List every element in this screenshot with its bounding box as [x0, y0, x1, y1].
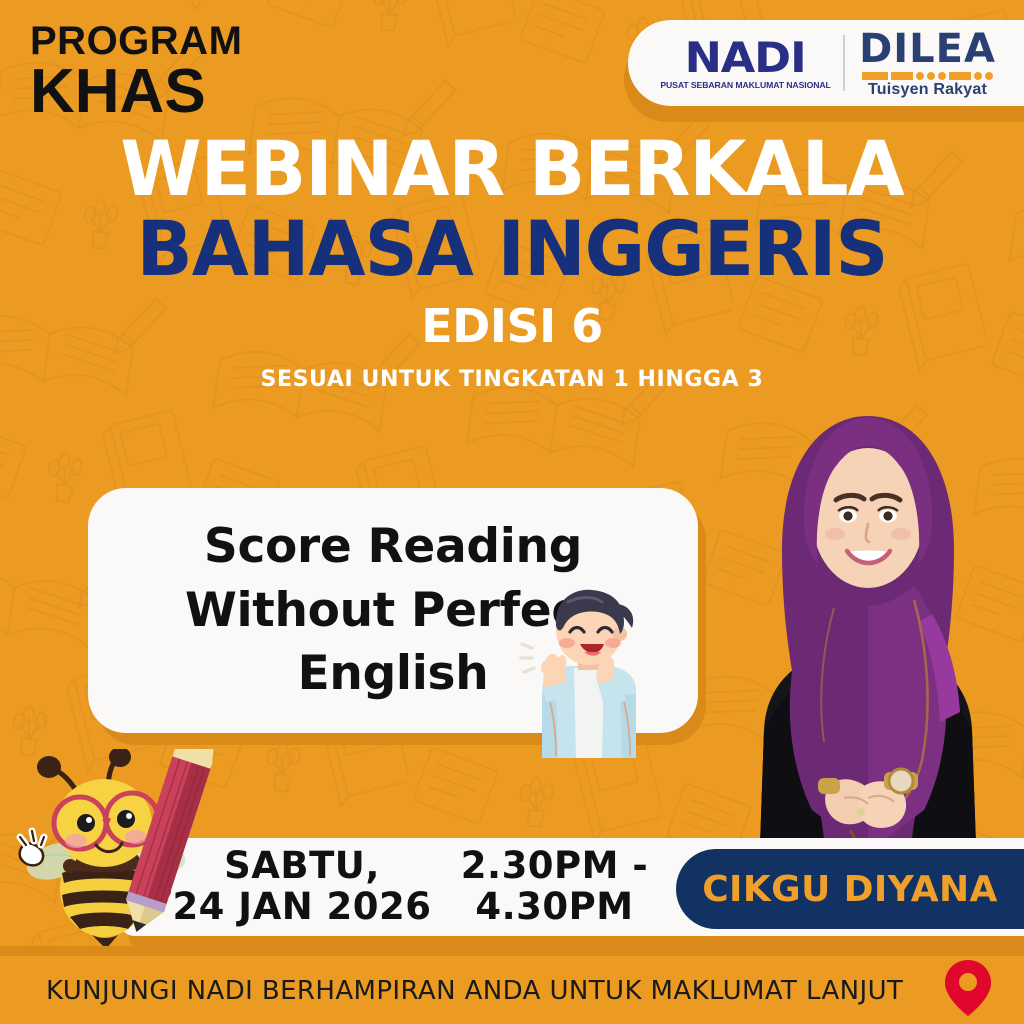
cheering-boy-illustration	[498, 578, 678, 758]
dilea-dash-dot-motif	[862, 72, 993, 80]
title-line-webinar: WEBINAR BERKALA	[15, 132, 1008, 206]
speaker-badge: CIKGU DIYANA	[676, 849, 1024, 929]
logo-card: NADI PUSAT SEBARAN MAKLUMAT NASIONAL DIL…	[628, 20, 1024, 106]
nadi-wordmark: NADI	[685, 37, 806, 79]
location-pin-icon	[942, 958, 994, 1018]
title-edition: EDISI 6	[0, 299, 1024, 353]
title-audience: SESUAI UNTUK TINGKATAN 1 HINGGA 3	[0, 367, 1024, 392]
main-title-block: WEBINAR BERKALA BAHASA INGGERIS EDISI 6 …	[0, 132, 1024, 392]
bee-mascot-with-pencil	[8, 749, 223, 964]
nadi-tagline: PUSAT SEBARAN MAKLUMAT NASIONAL	[660, 81, 830, 90]
schedule-time-end: 4.30PM	[452, 887, 657, 928]
dilea-tagline: Tuisyen Rakyat	[868, 82, 987, 98]
schedule-time-start: 2.30PM -	[452, 846, 657, 887]
footer-call-to-action: KUNJUNGI NADI BERHAMPIRAN ANDA UNTUK MAK…	[46, 976, 903, 1006]
khas-word: KHAS	[30, 62, 242, 122]
logo-divider	[843, 35, 845, 91]
poster-root: PROGRAM KHAS NADI PUSAT SEBARAN MAKLUMAT…	[0, 0, 1024, 1024]
schedule-time: 2.30PM - 4.30PM	[452, 846, 657, 927]
title-line-bahasa: BAHASA INGGERIS	[15, 212, 1008, 286]
program-word: PROGRAM	[30, 22, 242, 60]
dilea-logo: DILEA Tuisyen Rakyat	[859, 29, 996, 98]
nadi-logo: NADI PUSAT SEBARAN MAKLUMAT NASIONAL	[662, 37, 829, 90]
footer-band: KUNJUNGI NADI BERHAMPIRAN ANDA UNTUK MAK…	[0, 956, 1024, 1024]
program-label-block: PROGRAM KHAS	[30, 22, 242, 122]
dilea-wordmark: DILEA	[859, 29, 996, 69]
speaker-name: CIKGU DIYANA	[702, 869, 998, 910]
